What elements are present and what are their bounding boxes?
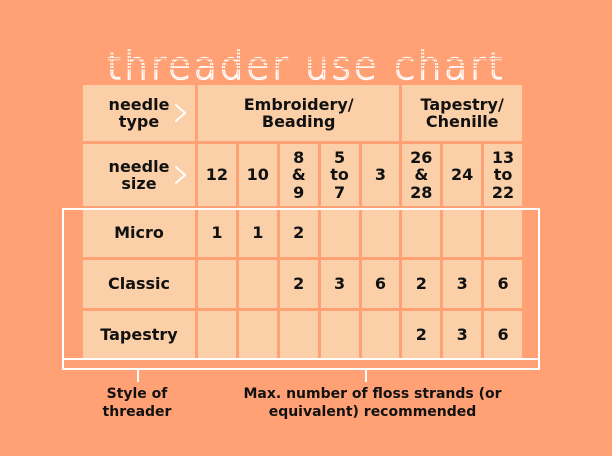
- needle-size-line: 8: [293, 148, 304, 167]
- group-header-tapestry-chenille: Tapestry/ Chenille: [402, 85, 522, 141]
- row-header-needle-type: needle type: [83, 85, 195, 141]
- row-header-needle-type-line1: needle: [109, 95, 170, 114]
- row-label-micro: Micro: [83, 209, 195, 257]
- cell-tapestry-2: [280, 311, 318, 359]
- cell-classic-6: 3: [443, 260, 481, 308]
- needle-size-line: 28: [410, 183, 432, 202]
- needle-size-cell: 5 to 7: [321, 144, 359, 206]
- needle-size-cell: 13 to 22: [484, 144, 522, 206]
- cell-tapestry-6: 3: [443, 311, 481, 359]
- table-row-needle-type: needle type Embroidery/ Beading Tapestry…: [83, 85, 522, 141]
- table-row: Classic 2 3 6 2 3 6: [83, 260, 522, 308]
- needle-size-line: 5: [334, 148, 345, 167]
- needle-size-line: 24: [451, 165, 473, 184]
- needle-size-line: 12: [206, 165, 228, 184]
- needle-size-line: 9: [293, 183, 304, 202]
- group-header-embroidery-beading: Embroidery/ Beading: [198, 85, 399, 141]
- chevron-right-icon: [174, 103, 187, 123]
- cell-tapestry-7: 6: [484, 311, 522, 359]
- table-row-needle-size: needle size 12 10 8 & 9 5 to 7 3 26 &: [83, 144, 522, 206]
- group-header-tapestry-chenille-line2: Chenille: [426, 112, 499, 131]
- cell-tapestry-4: [362, 311, 400, 359]
- needle-size-cell: 26 & 28: [402, 144, 440, 206]
- cell-classic-7: 6: [484, 260, 522, 308]
- needle-size-cell: 24: [443, 144, 481, 206]
- chevron-right-icon: [174, 165, 187, 185]
- needle-size-line: &: [414, 165, 428, 184]
- cell-micro-3: [321, 209, 359, 257]
- cell-classic-2: 2: [280, 260, 318, 308]
- caption-style-of-threader-line1: Style of: [107, 386, 168, 402]
- row-label-tapestry: Tapestry: [83, 311, 195, 359]
- needle-size-line: 13: [492, 148, 514, 167]
- needle-size-line: to: [494, 165, 513, 184]
- caption-max-floss-strands-line1: Max. number of floss strands (or: [243, 386, 501, 402]
- needle-size-cell: 3: [362, 144, 400, 206]
- table-row: Micro 1 1 2: [83, 209, 522, 257]
- needle-size-line: 7: [334, 183, 345, 202]
- table-row: Tapestry 2 3 6: [83, 311, 522, 359]
- caption-style-of-threader: Style of threader: [62, 386, 212, 421]
- cell-micro-4: [362, 209, 400, 257]
- row-label-classic: Classic: [83, 260, 195, 308]
- needle-size-line: 3: [375, 165, 386, 184]
- cell-classic-4: 6: [362, 260, 400, 308]
- threader-use-table: needle type Embroidery/ Beading Tapestry…: [80, 82, 525, 362]
- cell-micro-5: [402, 209, 440, 257]
- needle-size-line: to: [330, 165, 349, 184]
- caption-max-floss-strands-line2: equivalent) recommended: [269, 404, 477, 420]
- bottom-bracket-rule: [62, 368, 540, 370]
- needle-size-line: &: [292, 165, 306, 184]
- cell-micro-7: [484, 209, 522, 257]
- row-header-needle-type-line2: type: [119, 112, 159, 131]
- cell-tapestry-0: [198, 311, 236, 359]
- group-header-embroidery-beading-line2: Beading: [262, 112, 336, 131]
- cell-tapestry-1: [239, 311, 277, 359]
- cell-micro-6: [443, 209, 481, 257]
- cell-tapestry-3: [321, 311, 359, 359]
- cell-classic-5: 2: [402, 260, 440, 308]
- bottom-bracket-tick-right: [365, 368, 367, 382]
- cell-classic-3: 3: [321, 260, 359, 308]
- title-container: threader use chart: [0, 22, 612, 70]
- row-header-needle-size-line1: needle: [109, 157, 170, 176]
- needle-size-cell: 10: [239, 144, 277, 206]
- bottom-bracket-tick-left: [137, 368, 139, 382]
- cell-tapestry-5: 2: [402, 311, 440, 359]
- row-header-needle-size: needle size: [83, 144, 195, 206]
- cell-classic-1: [239, 260, 277, 308]
- group-header-tapestry-chenille-line1: Tapestry/: [421, 95, 504, 114]
- cell-classic-0: [198, 260, 236, 308]
- needle-size-cell: 12: [198, 144, 236, 206]
- caption-max-floss-strands: Max. number of floss strands (or equival…: [205, 386, 540, 421]
- group-header-embroidery-beading-line1: Embroidery/: [244, 95, 354, 114]
- needle-size-cell: 8 & 9: [280, 144, 318, 206]
- needle-size-line: 26: [410, 148, 432, 167]
- row-header-needle-size-line2: size: [121, 174, 156, 193]
- cell-micro-1: 1: [239, 209, 277, 257]
- cell-micro-0: 1: [198, 209, 236, 257]
- caption-style-of-threader-line2: threader: [103, 404, 172, 420]
- needle-size-line: 22: [492, 183, 514, 202]
- cell-micro-2: 2: [280, 209, 318, 257]
- needle-size-line: 10: [247, 165, 269, 184]
